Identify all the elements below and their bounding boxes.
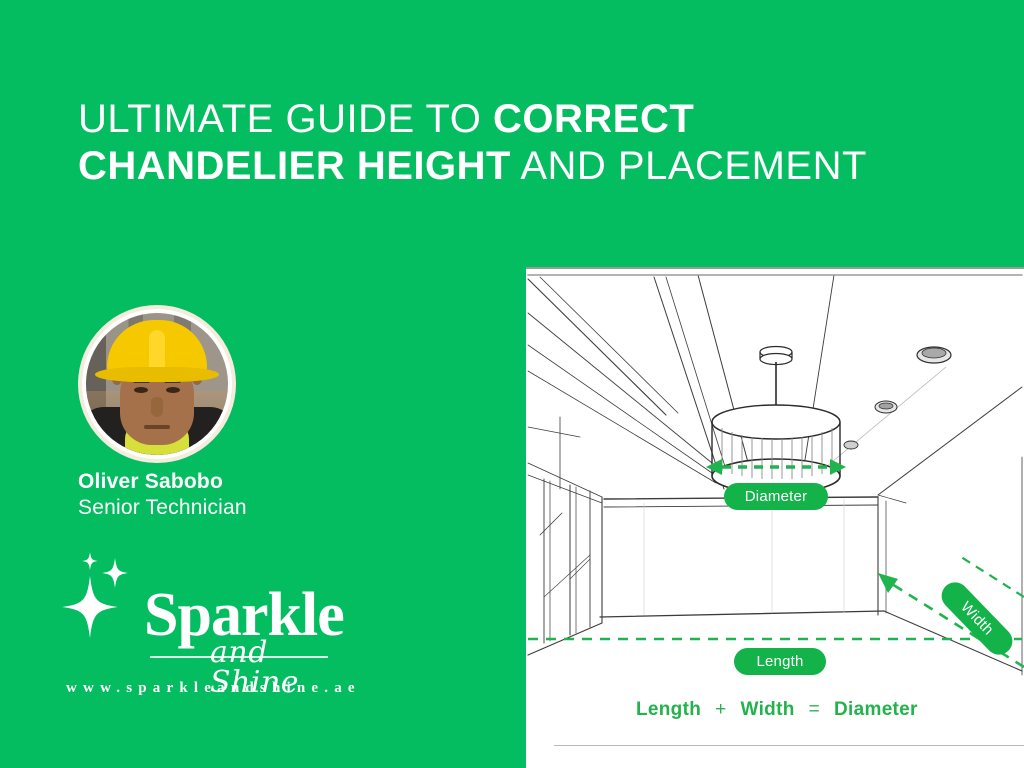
- label-length: Length: [734, 648, 826, 675]
- brand-logo: Sparkle and Shine: [62, 556, 362, 676]
- mouth: [144, 425, 170, 429]
- chandelier: [712, 347, 840, 494]
- title-line-1-bold: CORRECT: [493, 97, 694, 141]
- title-line-1-light: ULTIMATE GUIDE TO: [78, 97, 493, 141]
- formula: Length + Width = Diameter: [636, 699, 918, 721]
- title-line-2: CHANDELIER HEIGHT AND PLACEMENT: [78, 143, 898, 190]
- website-url: www.sparkleandshine.ae: [66, 680, 361, 697]
- formula-operator-plus: +: [715, 699, 726, 721]
- slide-canvas: ULTIMATE GUIDE TO CORRECT CHANDELIER HEI…: [0, 0, 1024, 768]
- formula-result-diameter: Diameter: [834, 699, 918, 721]
- sparkle-star-medium: [102, 558, 128, 588]
- eye-left: [134, 387, 148, 393]
- formula-operator-equals: =: [809, 699, 820, 721]
- spotlight-group: [844, 347, 951, 449]
- title-line-2-light: AND PLACEMENT: [511, 144, 867, 188]
- avatar-photo: [86, 313, 228, 455]
- formula-term-length: Length: [636, 699, 701, 721]
- label-diameter: Diameter: [724, 483, 828, 510]
- profile-role: Senior Technician: [78, 496, 247, 520]
- sparkle-star-small: [82, 552, 98, 570]
- formula-term-width: Width: [741, 699, 795, 721]
- eye-right: [166, 387, 180, 393]
- nose: [151, 397, 163, 417]
- profile-name: Oliver Sabobo: [78, 470, 223, 494]
- page-title: ULTIMATE GUIDE TO CORRECT CHANDELIER HEI…: [78, 96, 898, 190]
- title-line-1: ULTIMATE GUIDE TO CORRECT: [78, 96, 898, 143]
- diagram-panel: Diameter Length Width Length + Width = D…: [526, 267, 1024, 768]
- hard-hat-ridge: [149, 330, 165, 376]
- avatar: [78, 305, 236, 463]
- title-line-2-bold: CHANDELIER HEIGHT: [78, 144, 511, 188]
- room-sketch: [526, 267, 1024, 768]
- panel-bottom-divider: [554, 745, 1024, 746]
